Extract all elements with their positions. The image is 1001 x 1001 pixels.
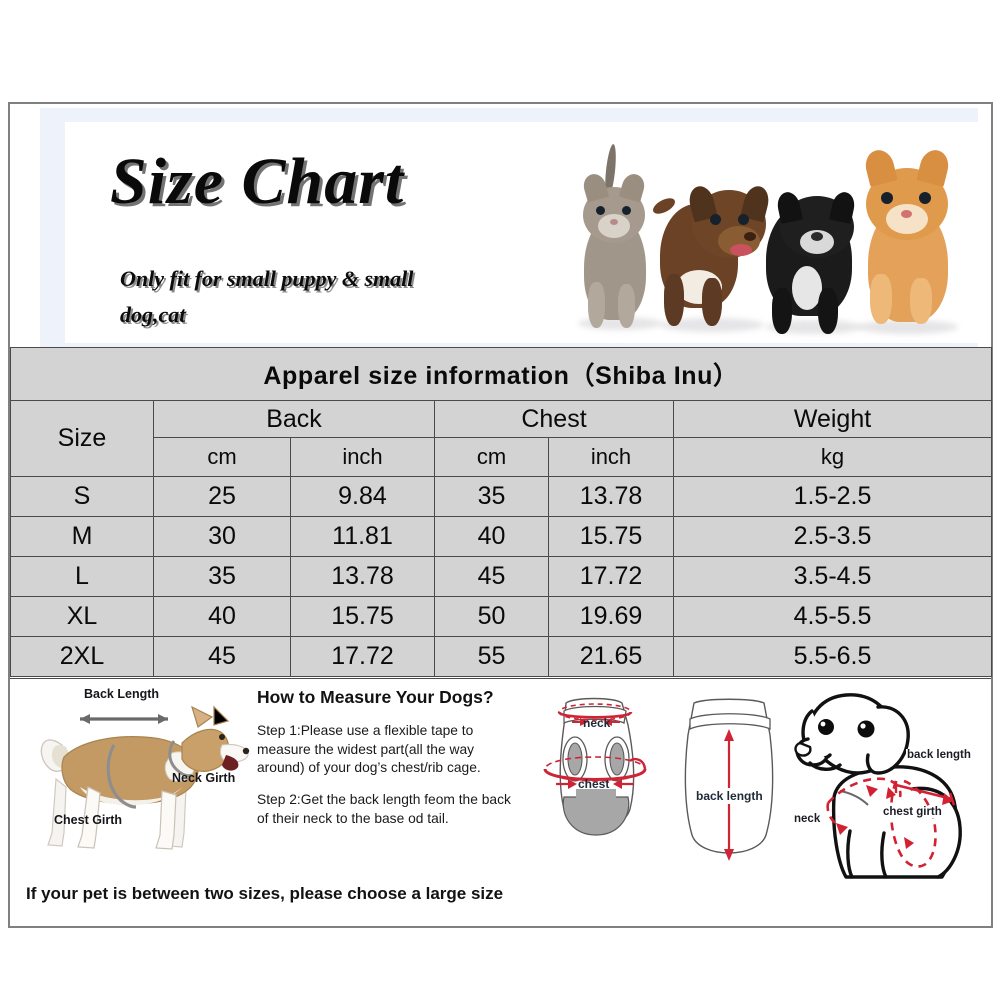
- footnote-text: If your pet is between two sizes, please…: [26, 884, 503, 904]
- cell-back-inch: 9.84: [291, 477, 435, 517]
- cell-chest-inch: 21.65: [549, 637, 674, 677]
- header-unit-back-inch: inch: [291, 438, 435, 477]
- shiba-neck-girth-label: Neck Girth: [172, 771, 235, 785]
- garment-back-length-label: back length: [693, 788, 766, 804]
- cell-size: S: [11, 477, 154, 517]
- cell-chest-cm: 35: [435, 477, 549, 517]
- shiba-illustration: Back Length Neck Girth Chest Girth: [22, 683, 250, 879]
- garment-neck-label: neck: [583, 716, 610, 730]
- shiba-svg: [22, 683, 250, 853]
- cell-back-cm: 35: [154, 557, 291, 597]
- size-table-container: Apparel size information（Shiba Inu） Size…: [10, 347, 991, 677]
- cell-back-inch: 13.78: [291, 557, 435, 597]
- pets-photo: [560, 132, 975, 337]
- cell-back-cm: 25: [154, 477, 291, 517]
- cell-chest-cm: 40: [435, 517, 549, 557]
- cell-back-cm: 45: [154, 637, 291, 677]
- cell-size: 2XL: [11, 637, 154, 677]
- cell-size: XL: [11, 597, 154, 637]
- size-table: Apparel size information（Shiba Inu） Size…: [10, 347, 992, 677]
- table-caption: Apparel size information（Shiba Inu）: [11, 348, 992, 401]
- page-title: Size Chart: [110, 144, 404, 220]
- puppy-neck-label: neck: [794, 813, 820, 825]
- cell-size: M: [11, 517, 154, 557]
- cell-size: L: [11, 557, 154, 597]
- how-to-measure-title: How to Measure Your Dogs?: [257, 687, 522, 708]
- table-caption-row: Apparel size information（Shiba Inu）: [11, 348, 992, 401]
- size-chart-card: Size Chart Only fit for small puppy & sm…: [8, 102, 993, 928]
- cell-weight: 3.5-4.5: [674, 557, 992, 597]
- cell-weight: 1.5-2.5: [674, 477, 992, 517]
- table-unit-header-row: cm inch cm inch kg: [11, 438, 992, 477]
- table-row: L 35 13.78 45 17.72 3.5-4.5: [11, 557, 992, 597]
- puppy-line-art: back length neck chest girth: [792, 681, 990, 881]
- header-group-chest: Chest: [435, 401, 674, 438]
- header-unit-back-cm: cm: [154, 438, 291, 477]
- header-group-weight: Weight: [674, 401, 992, 438]
- cell-weight: 2.5-3.5: [674, 517, 992, 557]
- header-size: Size: [11, 401, 154, 477]
- table-group-header-row: Size Back Chest Weight: [11, 401, 992, 438]
- garment-diagrams: neck chest back length: [530, 685, 800, 881]
- garment-svg: [530, 685, 800, 881]
- cell-chest-cm: 55: [435, 637, 549, 677]
- puppy-svg: [792, 681, 990, 881]
- cell-weight: 5.5-6.5: [674, 637, 992, 677]
- cell-back-cm: 30: [154, 517, 291, 557]
- header-unit-chest-cm: cm: [435, 438, 549, 477]
- cell-back-inch: 17.72: [291, 637, 435, 677]
- cell-chest-cm: 50: [435, 597, 549, 637]
- cell-back-inch: 15.75: [291, 597, 435, 637]
- measure-step-2: Step 2:Get the back length feom the back…: [257, 791, 522, 828]
- cell-back-cm: 40: [154, 597, 291, 637]
- subtitle-line-2: dog,cat: [120, 302, 185, 328]
- subtitle-line-1: Only fit for small puppy & small: [120, 266, 413, 292]
- header-group-back: Back: [154, 401, 435, 438]
- table-row: M 30 11.81 40 15.75 2.5-3.5: [11, 517, 992, 557]
- shiba-chest-girth-label: Chest Girth: [54, 813, 122, 827]
- cell-chest-inch: 13.78: [549, 477, 674, 517]
- puppy-back-length-label: back length: [906, 749, 972, 761]
- cell-back-inch: 11.81: [291, 517, 435, 557]
- table-row: 2XL 45 17.72 55 21.65 5.5-6.5: [11, 637, 992, 677]
- garment-back: [685, 699, 772, 861]
- garment-chest-label: chest: [578, 777, 609, 791]
- shiba-back-length-label: Back Length: [84, 687, 159, 701]
- header-unit-weight-kg: kg: [674, 438, 992, 477]
- measurement-guide-section: Back Length Neck Girth Chest Girth How t…: [10, 678, 991, 926]
- cell-chest-inch: 17.72: [549, 557, 674, 597]
- cell-chest-cm: 45: [435, 557, 549, 597]
- header-banner: Size Chart Only fit for small puppy & sm…: [10, 104, 991, 347]
- cell-chest-inch: 15.75: [549, 517, 674, 557]
- cell-chest-inch: 19.69: [549, 597, 674, 637]
- cell-weight: 4.5-5.5: [674, 597, 992, 637]
- measure-step-1: Step 1:Please use a flexible tape to mea…: [257, 722, 522, 778]
- table-row: XL 40 15.75 50 19.69 4.5-5.5: [11, 597, 992, 637]
- how-to-measure-block: How to Measure Your Dogs? Step 1:Please …: [257, 687, 522, 841]
- table-row: S 25 9.84 35 13.78 1.5-2.5: [11, 477, 992, 517]
- puppy-chest-girth-label: chest girth: [882, 806, 943, 818]
- orange-kitten: [848, 146, 968, 336]
- header-unit-chest-inch: inch: [549, 438, 674, 477]
